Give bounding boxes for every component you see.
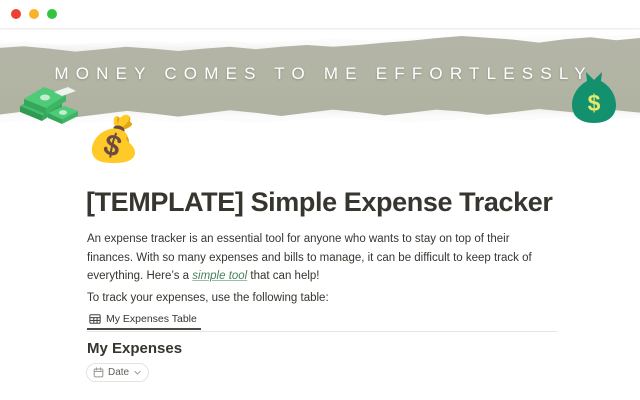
page-icon[interactable]: 💰: [86, 118, 138, 170]
instruction-paragraph[interactable]: To track your expenses, use the followin…: [87, 289, 557, 308]
tab-my-expenses-table[interactable]: My Expenses Table: [87, 309, 201, 330]
close-window-button[interactable]: [11, 9, 21, 19]
property-date-button[interactable]: Date: [86, 363, 149, 382]
banner-title: MONEY COMES TO ME EFFORTLESSLY: [0, 64, 640, 84]
title-bar: [0, 0, 640, 28]
money-bag-icon: $: [568, 68, 620, 126]
intro-text-part-2: that can help!: [247, 270, 319, 282]
window-controls: [11, 9, 57, 19]
svg-text:$: $: [588, 90, 601, 116]
database-tab-strip: My Expenses Table: [87, 309, 557, 332]
chevron-down-icon: [133, 368, 142, 377]
app-window: MONEY COMES TO ME EFFORTLESSLY $ 💰 [TEMP…: [0, 0, 640, 400]
database-title[interactable]: My Expenses: [87, 340, 182, 357]
page-content: [TEMPLATE] Simple Expense Tracker An exp…: [0, 131, 640, 400]
property-label: Date: [108, 367, 129, 378]
table-icon: [89, 313, 101, 325]
minimize-window-button[interactable]: [29, 9, 39, 19]
tab-label: My Expenses Table: [106, 313, 197, 325]
calendar-icon: [93, 367, 104, 378]
database-property-row: Date: [86, 363, 149, 382]
zoom-window-button[interactable]: [47, 9, 57, 19]
simple-tool-link[interactable]: simple tool: [192, 270, 247, 282]
page-title[interactable]: [TEMPLATE] Simple Expense Tracker: [86, 187, 552, 218]
intro-paragraph[interactable]: An expense tracker is an essential tool …: [87, 230, 557, 286]
money-bills-icon: [18, 82, 80, 127]
